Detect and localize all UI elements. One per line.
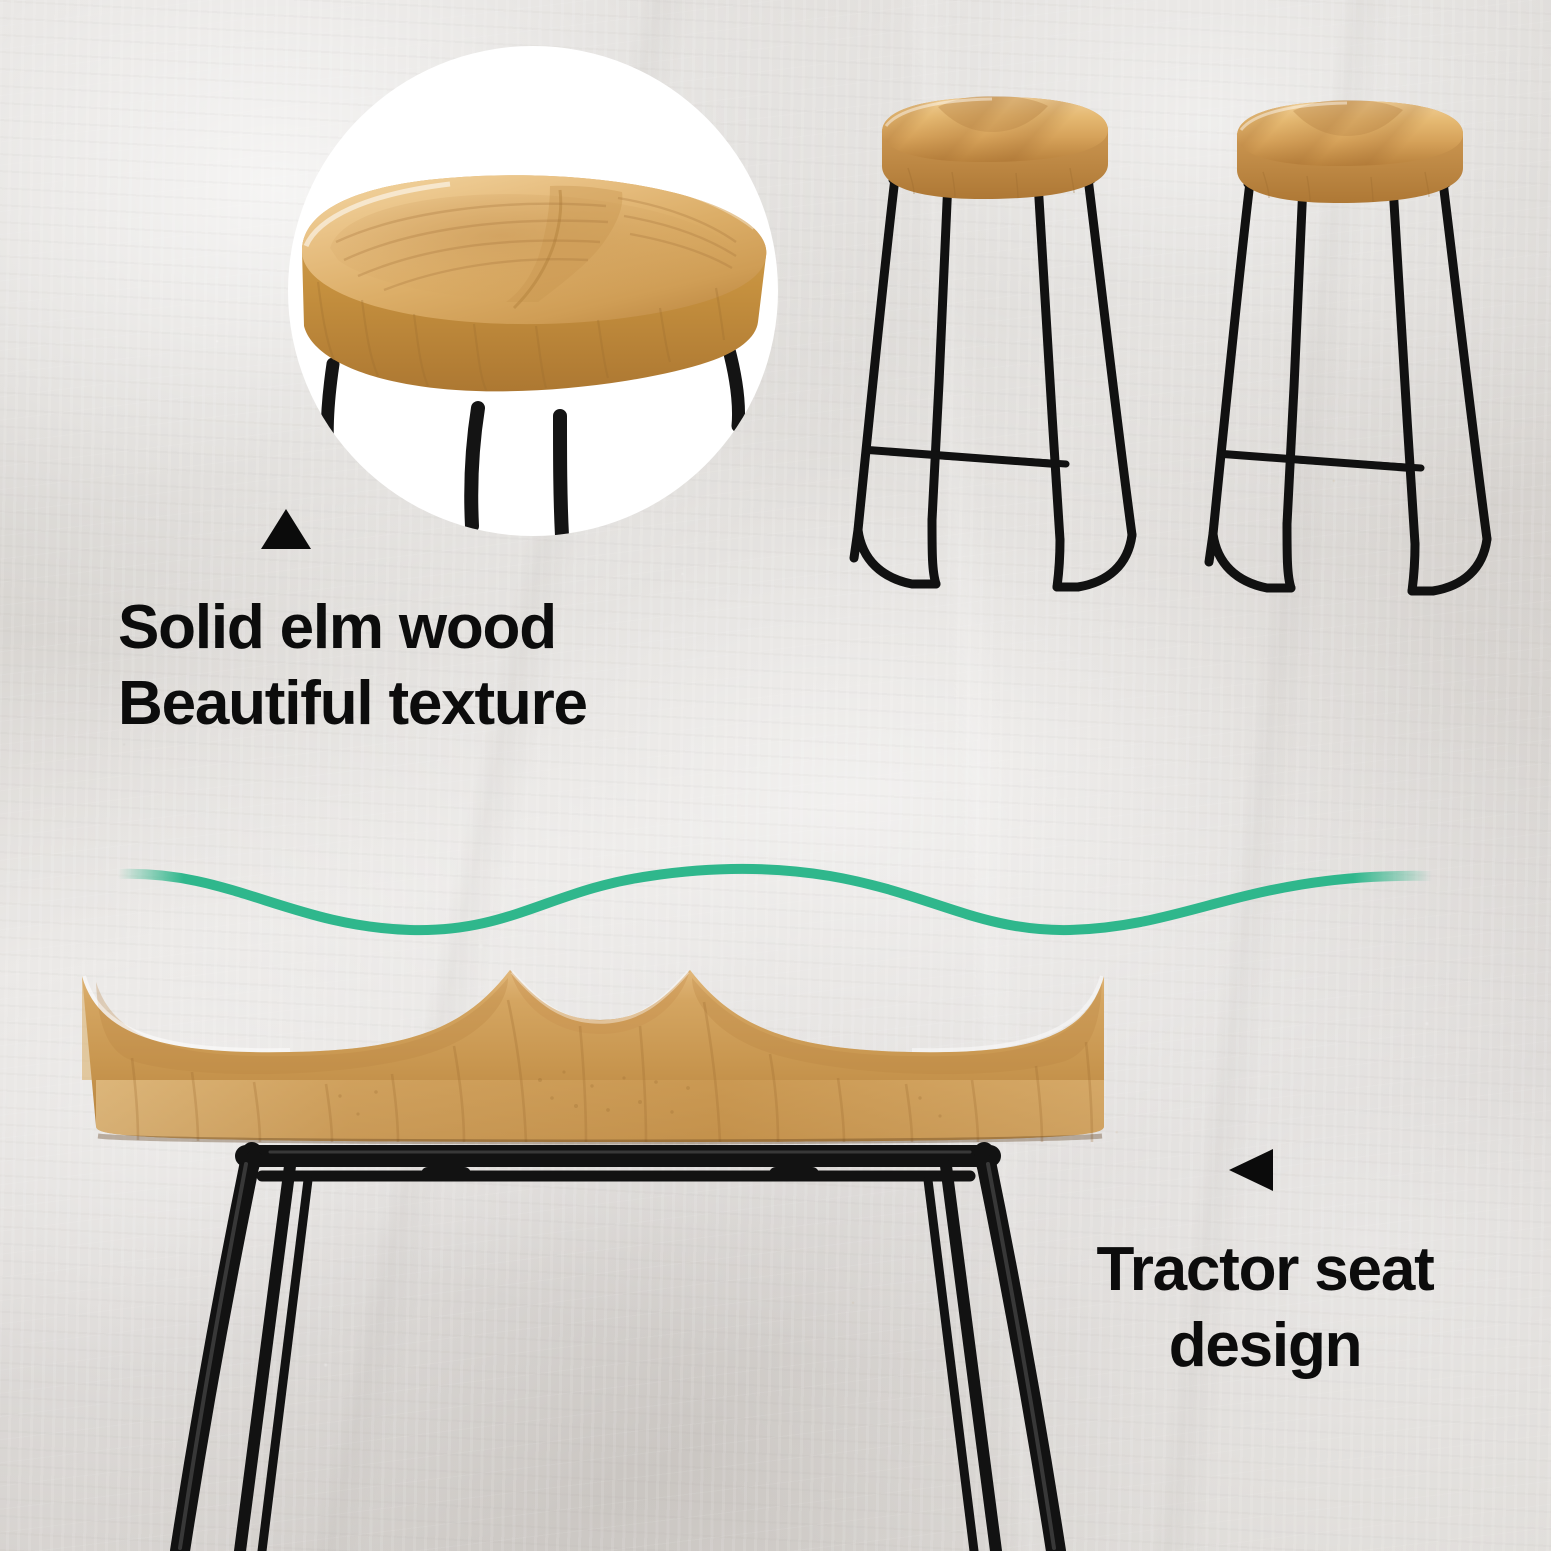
feature-line-2: design: [1020, 1308, 1510, 1384]
seat-body: [302, 174, 766, 391]
triangle-left-icon: [1229, 1149, 1273, 1191]
stool-top-left: [854, 96, 1132, 587]
stool-pair-group: [820, 60, 1520, 620]
stool-top-right: [1209, 100, 1487, 591]
stool-foreground: [40, 930, 1160, 1551]
stool-frame: [1209, 182, 1487, 591]
feature-tractor-seat-design: Tractor seat design: [1020, 1232, 1510, 1383]
feature-line-1: Solid elm wood: [118, 590, 918, 666]
stool-seat: [1237, 100, 1463, 203]
foreground-seat: [82, 970, 1104, 1142]
product-feature-image: Solid elm wood Beautiful texture: [0, 0, 1551, 1551]
feature-solid-elm-wood: Solid elm wood Beautiful texture: [118, 590, 918, 741]
stool-seat: [882, 96, 1108, 199]
frame-highlight: [180, 1152, 1054, 1548]
foreground-stool-frame: [180, 1152, 1056, 1551]
seat-closeup-illustration: [288, 46, 778, 536]
feature-line-1: Tractor seat: [1020, 1232, 1510, 1308]
stool-frame: [854, 178, 1132, 587]
seat-closeup-circle: [288, 46, 778, 536]
feature-line-2: Beautiful texture: [118, 666, 918, 742]
triangle-up-icon: [261, 509, 311, 549]
